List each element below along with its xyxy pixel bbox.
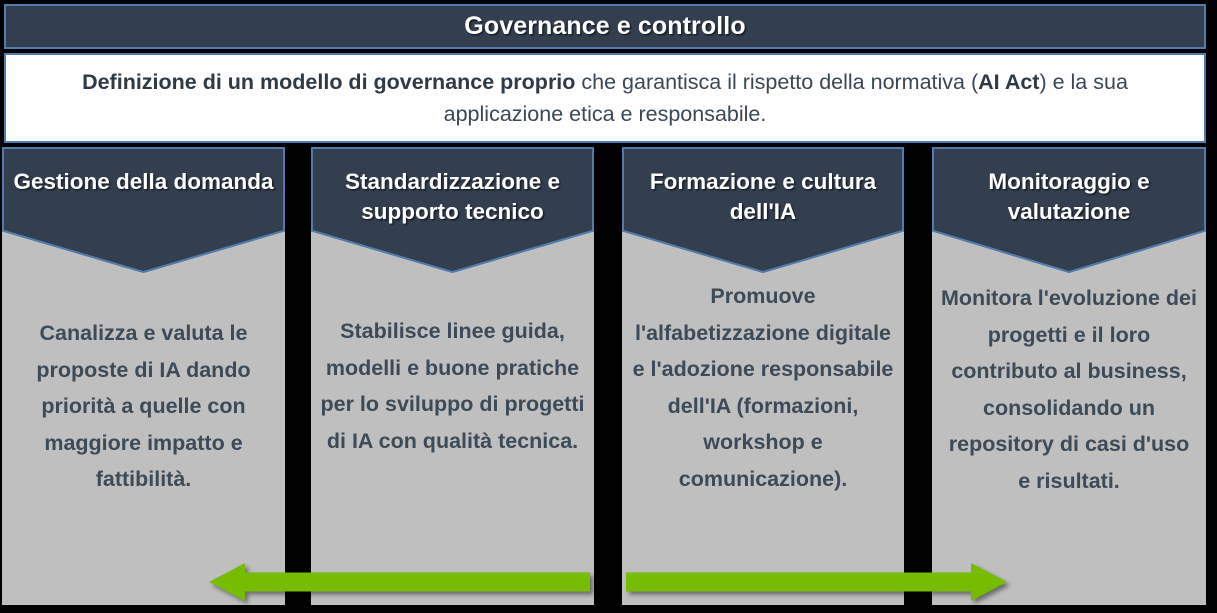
governance-banner: Governance e controllo	[4, 4, 1206, 49]
column-description: Promuove l'alfabetizzazione digitale e l…	[622, 278, 904, 497]
pillar-column-standardizzazione-e-supporto-tecnico[interactable]: Standardizzazione e supporto tecnico Sta…	[311, 147, 594, 605]
column-title: Formazione e cultura dell'IA	[622, 167, 904, 227]
page-title: Governance e controllo	[464, 12, 745, 41]
column-title: Gestione della domanda	[2, 167, 285, 197]
description-bold-lead: Definizione di un modello di governance …	[82, 70, 575, 94]
pillar-column-formazione-e-cultura-dell-ia[interactable]: Formazione e cultura dell'IA Promuove l'…	[622, 147, 904, 605]
column-title: Standardizzazione e supporto tecnico	[311, 167, 594, 227]
description-bold-act: AI Act	[978, 70, 1039, 94]
column-title: Monitoraggio e valutazione	[932, 167, 1206, 227]
description-panel: Definizione di un modello di governance …	[4, 53, 1206, 143]
diagram-canvas: Governance e controllo Definizione di un…	[0, 0, 1217, 613]
description-text: Definizione di un modello di governance …	[20, 66, 1190, 130]
column-description: Canalizza e valuta le proposte di IA dan…	[2, 315, 285, 498]
arrow-right-icon	[626, 563, 1007, 601]
column-description: Stabilisce linee guida, modelli e buone …	[311, 313, 594, 459]
description-mid: che garantisca il rispetto della normati…	[575, 70, 978, 94]
pillar-column-gestione-della-domanda[interactable]: Gestione della domanda Canalizza e valut…	[2, 147, 285, 605]
column-description: Monitora l'evoluzione dei progetti e il …	[932, 280, 1206, 499]
arrow-left-icon	[209, 563, 590, 601]
pillar-column-monitoraggio-e-valutazione[interactable]: Monitoraggio e valutazione Monitora l'ev…	[932, 147, 1206, 605]
